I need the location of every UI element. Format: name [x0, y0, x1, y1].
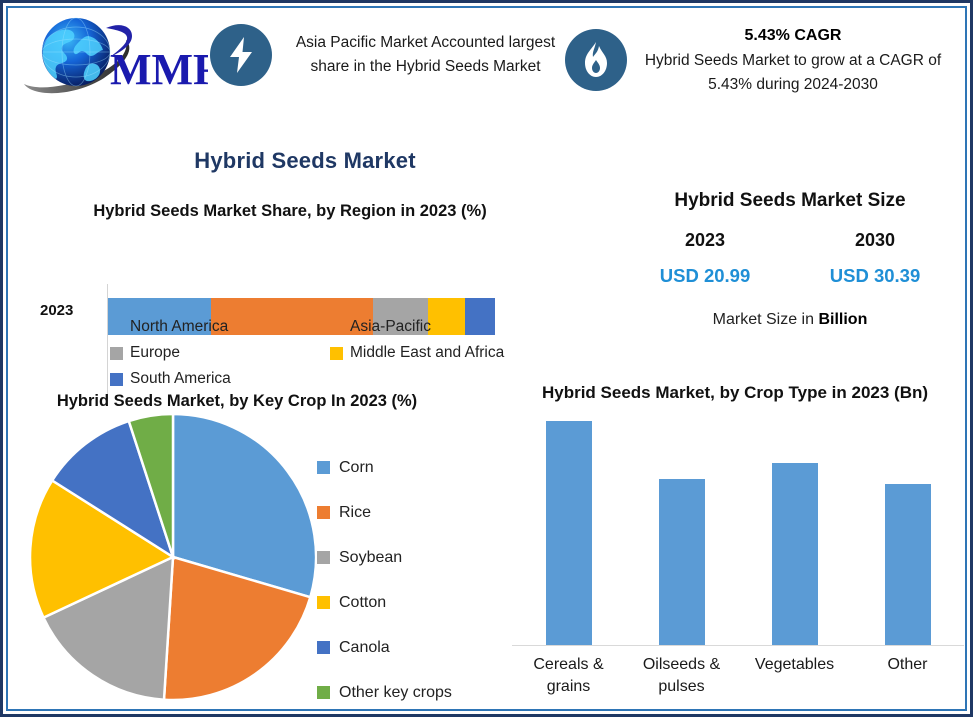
legend-label: Europe — [130, 344, 180, 362]
crop-bar-cereals-grains[interactable] — [546, 421, 592, 645]
flame-icon — [565, 29, 627, 91]
base-year-label: 2023 — [620, 230, 790, 251]
footnote-prefix: Market Size in — [713, 311, 819, 328]
pie-legend-item-rice[interactable]: Rice — [317, 490, 492, 535]
legend-swatch-icon — [317, 461, 330, 474]
legend-swatch-icon — [110, 373, 123, 386]
crop-xlabel-vegetables: Vegetables — [738, 654, 851, 697]
crop-column-cereals-grains — [512, 410, 625, 645]
crop-chart-title: Hybrid Seeds Market, by Crop Type in 202… — [505, 382, 965, 405]
forecast-year-label: 2030 — [790, 230, 960, 251]
pie-legend-item-corn[interactable]: Corn — [317, 445, 492, 490]
crop-column-other — [851, 410, 964, 645]
legend-label: South America — [130, 370, 231, 388]
market-size-base-column: 2023 USD 20.99 — [620, 230, 790, 287]
pie-legend-item-cotton[interactable]: Cotton — [317, 580, 492, 625]
pie-plot — [28, 412, 318, 702]
lightning-bolt-icon — [210, 24, 272, 86]
crop-column-oilseeds-pulses — [625, 410, 738, 645]
legend-swatch-icon — [317, 641, 330, 654]
region-chart-title: Hybrid Seeds Market Share, by Region in … — [30, 200, 550, 222]
pie-legend: Corn Rice Soybean Cotton Canola Other ke… — [317, 445, 492, 715]
pie-chart-title: Hybrid Seeds Market, by Key Crop In 2023… — [12, 390, 462, 412]
market-size-values: 2023 USD 20.99 2030 USD 30.39 — [620, 230, 960, 287]
market-size-footnote: Market Size in Billion — [620, 311, 960, 329]
crop-xlabel-other: Other — [851, 654, 964, 697]
crop-axis-line — [512, 645, 964, 646]
legend-label: Corn — [339, 459, 374, 477]
crop-xlabel-cereals-grains: Cereals & grains — [512, 654, 625, 697]
infographic-canvas: MMR Asia Pacific Market Accounted larges… — [0, 0, 973, 717]
legend-label: Soybean — [339, 549, 402, 567]
header-cagr-text: 5.43% CAGR Hybrid Seeds Market to grow a… — [641, 24, 945, 96]
legend-swatch-icon — [317, 686, 330, 699]
header-highlight-text: Asia Pacific Market Accounted largest sh… — [286, 31, 565, 78]
legend-item-middle-east-africa[interactable]: Middle East and Africa — [330, 344, 550, 362]
header-cagr-block: 5.43% CAGR Hybrid Seeds Market to grow a… — [565, 10, 945, 96]
forecast-year-value: USD 30.39 — [790, 265, 960, 287]
legend-swatch-icon — [110, 321, 123, 334]
legend-swatch-icon — [317, 551, 330, 564]
legend-swatch-icon — [330, 321, 343, 334]
market-size-title: Hybrid Seeds Market Size — [620, 190, 960, 212]
crop-bar-oilseeds-pulses[interactable] — [659, 479, 705, 645]
region-category-label: 2023 — [40, 302, 73, 319]
crop-xlabel-oilseeds-pulses: Oilseeds & pulses — [625, 654, 738, 697]
legend-item-europe[interactable]: Europe — [110, 344, 330, 362]
pie-svg — [28, 412, 318, 702]
legend-label: Cotton — [339, 594, 386, 612]
legend-item-asia-pacific[interactable]: Asia-Pacific — [330, 318, 550, 336]
header: MMR Asia Pacific Market Accounted larges… — [10, 10, 963, 138]
legend-label: North America — [130, 318, 228, 336]
crop-type-bar-chart: Hybrid Seeds Market, by Crop Type in 202… — [505, 382, 965, 702]
base-year-value: USD 20.99 — [620, 265, 790, 287]
footnote-unit: Billion — [818, 311, 867, 328]
legend-swatch-icon — [317, 506, 330, 519]
legend-label: Rice — [339, 504, 371, 522]
mmr-logo[interactable]: MMR — [10, 10, 210, 120]
globe-logo-icon: MMR — [18, 12, 208, 112]
market-size-panel: Hybrid Seeds Market Size 2023 USD 20.99 … — [620, 190, 960, 329]
region-legend: North America Asia-Pacific Europe Middle… — [110, 318, 550, 396]
svg-text:MMR: MMR — [110, 45, 208, 94]
crop-bars — [512, 410, 964, 645]
crop-column-vegetables — [738, 410, 851, 645]
legend-item-north-america[interactable]: North America — [110, 318, 330, 336]
legend-label: Canola — [339, 639, 390, 657]
legend-swatch-icon — [110, 347, 123, 360]
legend-label: Asia-Pacific — [350, 318, 431, 336]
pie-legend-item-other-key-crops[interactable]: Other key crops — [317, 670, 492, 715]
legend-swatch-icon — [317, 596, 330, 609]
page-title: Hybrid Seeds Market — [0, 148, 610, 174]
legend-label: Middle East and Africa — [350, 344, 504, 362]
region-share-chart: Hybrid Seeds Market Share, by Region in … — [30, 200, 550, 344]
key-crop-pie-chart: Hybrid Seeds Market, by Key Crop In 2023… — [12, 390, 492, 412]
header-highlight-block: Asia Pacific Market Accounted largest sh… — [210, 10, 565, 86]
cagr-headline: 5.43% CAGR — [641, 24, 945, 48]
cagr-description: Hybrid Seeds Market to grow at a CAGR of… — [645, 52, 941, 93]
pie-legend-item-soybean[interactable]: Soybean — [317, 535, 492, 580]
crop-bar-vegetables[interactable] — [772, 463, 818, 645]
crop-x-axis-labels: Cereals & grains Oilseeds & pulses Veget… — [512, 654, 964, 697]
market-size-forecast-column: 2030 USD 30.39 — [790, 230, 960, 287]
pie-legend-item-canola[interactable]: Canola — [317, 625, 492, 670]
crop-chart-plot — [512, 410, 964, 645]
legend-item-south-america[interactable]: South America — [110, 370, 330, 388]
legend-label: Other key crops — [339, 684, 452, 702]
legend-swatch-icon — [330, 347, 343, 360]
crop-bar-other[interactable] — [885, 484, 931, 645]
